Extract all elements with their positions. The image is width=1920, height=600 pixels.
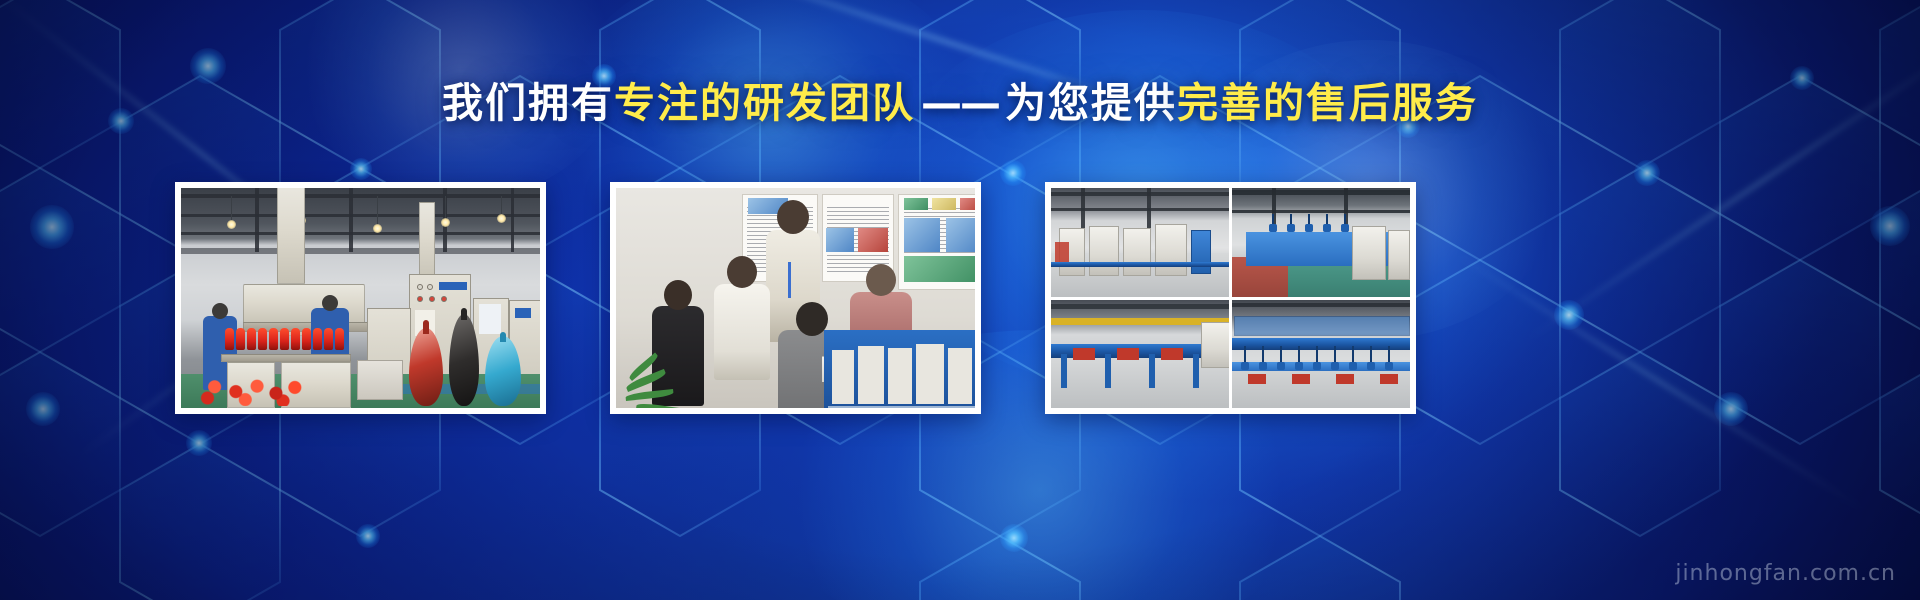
- photo-frame-plating-line[interactable]: [175, 182, 546, 414]
- collage-cell-conveyor: [1051, 300, 1229, 409]
- headline-segment-2: 专注的研发团队: [614, 79, 915, 127]
- headline-separator: ——: [915, 79, 1005, 127]
- collage-cell-tunnel-line: [1232, 188, 1410, 297]
- headline-segment-4: 完善的售后服务: [1177, 79, 1478, 127]
- photo-frame-equipment-collage[interactable]: [1045, 182, 1416, 414]
- plant: [622, 350, 692, 408]
- photo-technical-meeting: [616, 188, 975, 408]
- photo-frame-technical-meeting[interactable]: [610, 182, 981, 414]
- page-title: 我们拥有专注的研发团队——为您提供完善的售后服务: [0, 78, 1920, 129]
- factory-scene: [181, 188, 540, 408]
- collage-cell-workshop: [1051, 188, 1229, 297]
- red-products-pile: [191, 374, 309, 406]
- photo-plating-line: [181, 188, 540, 408]
- photo-gallery: [0, 182, 1920, 414]
- promo-banner: 我们拥有专注的研发团队——为您提供完善的售后服务: [0, 0, 1920, 600]
- equipment-photo-inset: [824, 330, 975, 408]
- headline-segment-1: 我们拥有: [442, 79, 614, 127]
- person-seated: [714, 284, 770, 380]
- meeting-scene: [616, 188, 975, 408]
- collage-grid: [1051, 188, 1410, 408]
- photo-equipment-collage: [1051, 188, 1410, 408]
- site-watermark: jinhongfan.com.cn: [1675, 561, 1896, 586]
- red-parts-rack: [225, 328, 345, 356]
- headline-segment-3: 为您提供: [1005, 79, 1177, 127]
- collage-cell-plating-rack: [1232, 300, 1410, 409]
- crate: [357, 360, 403, 400]
